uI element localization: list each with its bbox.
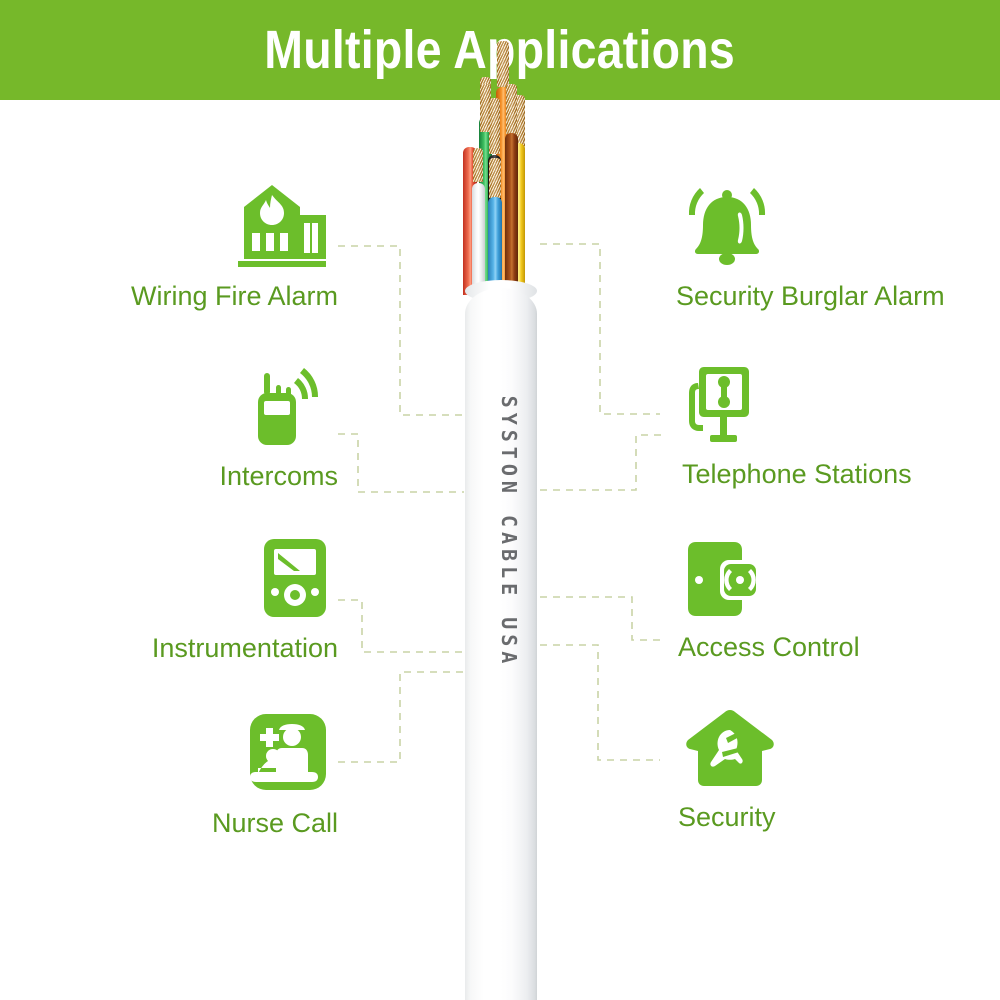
walkie-talkie-icon bbox=[248, 363, 330, 447]
wire-brown bbox=[505, 133, 518, 295]
wire-orange-copper bbox=[497, 41, 509, 87]
connector-path-telephone bbox=[540, 435, 662, 490]
connector-path-burglar-alarm bbox=[540, 244, 660, 414]
application-label: Security Burglar Alarm bbox=[676, 283, 945, 310]
application-item-wiring-fire-alarm[interactable]: Wiring Fire Alarm bbox=[104, 183, 338, 310]
application-item-instrumentation[interactable]: Instrumentation bbox=[131, 537, 338, 662]
wire-brown-copper bbox=[506, 84, 517, 134]
cable-illustration: SYSTON CABLE USA bbox=[455, 120, 550, 1000]
application-label: Access Control bbox=[678, 634, 860, 661]
application-item-nurse-call[interactable]: Nurse Call bbox=[194, 712, 338, 837]
application-label: Telephone Stations bbox=[682, 461, 912, 488]
wire-white bbox=[472, 183, 485, 295]
connector-path-intercoms bbox=[338, 434, 464, 492]
door-card-reader-icon bbox=[684, 540, 764, 618]
application-label: Security bbox=[678, 804, 776, 831]
application-item-security-burglar-alarm[interactable]: Security Burglar Alarm bbox=[676, 183, 945, 310]
multiple-applications-infographic: Multiple Applications bbox=[0, 0, 1000, 1000]
connector-path-nurse-call bbox=[338, 672, 464, 762]
bell-icon bbox=[682, 183, 772, 267]
cable-print-text: SYSTON CABLE USA bbox=[497, 382, 521, 682]
nurse-call-icon bbox=[246, 712, 330, 794]
wire-white-copper bbox=[473, 148, 483, 182]
wire-black-copper bbox=[489, 98, 500, 154]
payphone-icon bbox=[688, 365, 750, 445]
application-item-security[interactable]: Security bbox=[678, 708, 776, 831]
application-label: Intercoms bbox=[219, 463, 338, 490]
application-label: Instrumentation bbox=[152, 635, 338, 662]
connector-path-security bbox=[540, 645, 660, 760]
wire-blue-copper bbox=[489, 158, 501, 198]
application-label: Wiring Fire Alarm bbox=[131, 283, 338, 310]
connector-path-instrumentation bbox=[338, 600, 464, 652]
application-item-intercoms[interactable]: Intercoms bbox=[200, 363, 338, 490]
application-item-telephone-stations[interactable]: Telephone Stations bbox=[682, 365, 912, 488]
house-shield-icon bbox=[684, 708, 776, 788]
connector-path-access-control bbox=[540, 597, 662, 640]
application-item-access-control[interactable]: Access Control bbox=[678, 540, 860, 661]
application-label: Nurse Call bbox=[212, 810, 338, 837]
gauge-meter-icon bbox=[260, 537, 330, 619]
connector-path-fire-alarm bbox=[338, 246, 464, 415]
fire-station-icon bbox=[234, 183, 330, 267]
